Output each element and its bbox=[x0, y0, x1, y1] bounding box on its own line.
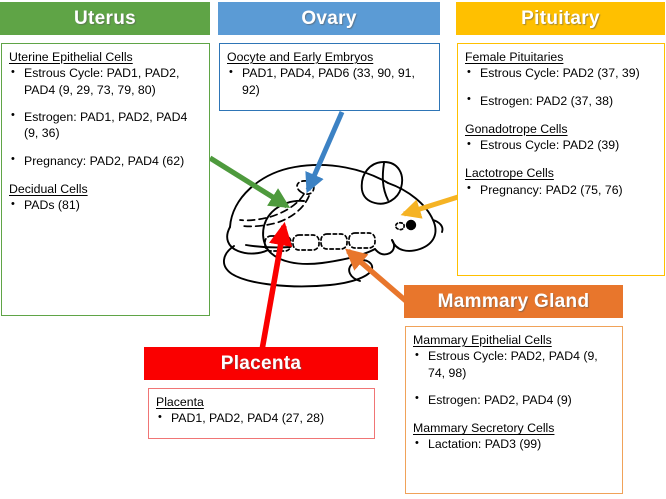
list-item: Estrogen: PAD1, PAD2, PAD4 (9, 36) bbox=[9, 109, 203, 142]
group-title: Placenta bbox=[156, 394, 368, 410]
panel-uterus-body: Uterine Epithelial Cells Estrous Cycle: … bbox=[1, 43, 210, 316]
panel-placenta-body: Placenta PAD1, PAD2, PAD4 (27, 28) bbox=[148, 388, 375, 439]
group-title: Decidual Cells bbox=[9, 181, 203, 197]
list-item: Estrous Cycle: PAD1, PAD2, PAD4 (9, 29, … bbox=[9, 65, 203, 98]
group-placenta: Placenta PAD1, PAD2, PAD4 (27, 28) bbox=[156, 394, 368, 427]
group-title: Female Pituitaries bbox=[465, 49, 658, 65]
group-title: Uterine Epithelial Cells bbox=[9, 49, 203, 65]
list-item: Estrous Cycle: PAD2 (39) bbox=[465, 137, 658, 153]
group-title: Mammary Secretory Cells bbox=[413, 420, 616, 436]
list-item: PAD1, PAD4, PAD6 (33, 90, 91, 92) bbox=[227, 65, 433, 98]
group-title: Lactotrope Cells bbox=[465, 165, 658, 181]
panel-pituitary-body: Female Pituitaries Estrous Cycle: PAD2 (… bbox=[457, 43, 665, 276]
diagram-canvas: Uterus Uterine Epithelial Cells Estrous … bbox=[0, 0, 666, 499]
group-oocyte-and-early-embryos: Oocyte and Early Embryos PAD1, PAD4, PAD… bbox=[227, 49, 433, 98]
group-title: Mammary Epithelial Cells bbox=[413, 332, 616, 348]
group-decidual-cells: Decidual Cells PADs (81) bbox=[9, 181, 203, 214]
group-female-pituitaries: Female Pituitaries Estrous Cycle: PAD2 (… bbox=[465, 49, 658, 109]
panel-uterus-header: Uterus bbox=[0, 2, 210, 35]
list-item: Estrogen: PAD2 (37, 38) bbox=[465, 93, 658, 109]
list-item: Pregnancy: PAD2, PAD4 (62) bbox=[9, 153, 203, 169]
panel-mammary-gland-body: Mammary Epithelial Cells Estrous Cycle: … bbox=[405, 326, 623, 494]
mouse-illustration bbox=[212, 150, 454, 300]
list-item: PAD1, PAD2, PAD4 (27, 28) bbox=[156, 410, 368, 426]
panel-mammary-gland-header: Mammary Gland bbox=[404, 285, 623, 318]
group-title: Gonadotrope Cells bbox=[465, 121, 658, 137]
group-gonadotrope-cells: Gonadotrope Cells Estrous Cycle: PAD2 (3… bbox=[465, 121, 658, 154]
list-item: Estrous Cycle: PAD2 (37, 39) bbox=[465, 65, 658, 81]
panel-ovary-body: Oocyte and Early Embryos PAD1, PAD4, PAD… bbox=[219, 43, 440, 111]
panel-placenta-header: Placenta bbox=[144, 347, 378, 380]
panel-pituitary-header: Pituitary bbox=[456, 2, 665, 35]
list-item: PADs (81) bbox=[9, 197, 203, 213]
group-uterine-epithelial-cells: Uterine Epithelial Cells Estrous Cycle: … bbox=[9, 49, 203, 169]
panel-ovary-header: Ovary bbox=[218, 2, 440, 35]
group-mammary-secretory-cells: Mammary Secretory Cells Lactation: PAD3 … bbox=[413, 420, 616, 453]
group-lactotrope-cells: Lactotrope Cells Pregnancy: PAD2 (75, 76… bbox=[465, 165, 658, 198]
list-item: Estrogen: PAD2, PAD4 (9) bbox=[413, 392, 616, 408]
uterine-horn-upper bbox=[240, 194, 304, 220]
group-title: Oocyte and Early Embryos bbox=[227, 49, 433, 65]
list-item: Pregnancy: PAD2 (75, 76) bbox=[465, 182, 658, 198]
mouse-eye bbox=[406, 220, 416, 230]
list-item: Lactation: PAD3 (99) bbox=[413, 436, 616, 452]
group-mammary-epithelial-cells: Mammary Epithelial Cells Estrous Cycle: … bbox=[413, 332, 616, 408]
ovary-organ bbox=[297, 181, 314, 194]
list-item: Estrous Cycle: PAD2, PAD4 (9, 74, 98) bbox=[413, 348, 616, 381]
pituitary-organ bbox=[396, 223, 404, 230]
